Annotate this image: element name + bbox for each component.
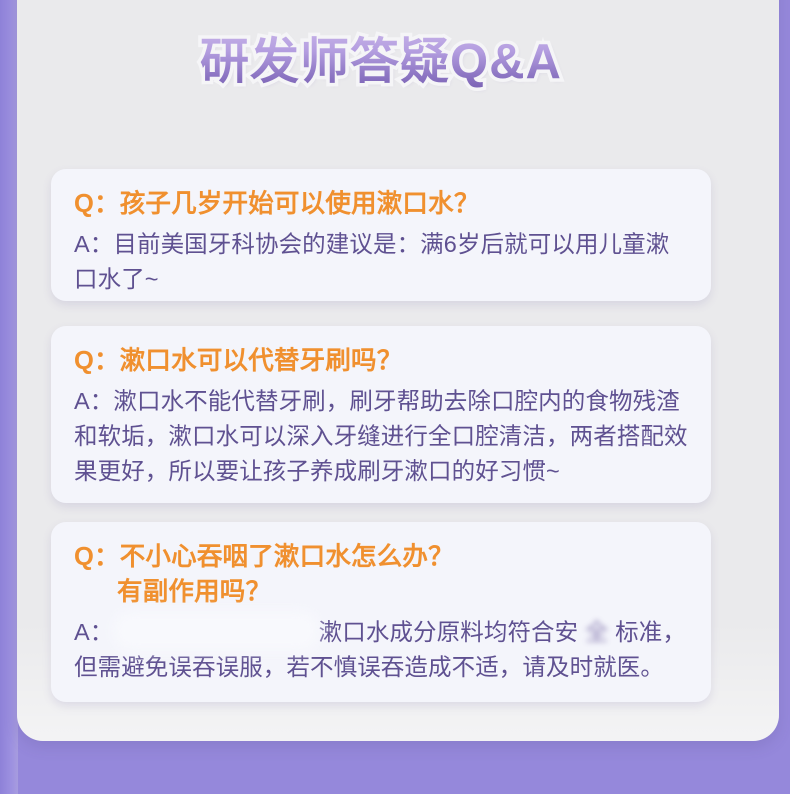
faq-question-line: Q：漱口水可以代替牙刷吗？ [74, 344, 689, 379]
redacted-brand-name [122, 620, 310, 642]
page-title-text: 研发师答疑Q&A [200, 34, 562, 90]
faq-answer-text: A：漱口水不能代替牙刷，刷牙帮助去除口腔内的食物残渣和软垢，漱口水可以深入牙缝进… [74, 388, 688, 484]
page-root: 研发师答疑Q&A 研发师答疑Q&A Q：孩子几岁开始可以使用漱口水？ A：目前美… [0, 0, 790, 794]
faq-answer-text: A：目前美国牙科协会的建议是：满6岁后就可以用儿童漱口水了~ [74, 231, 669, 292]
faq-question-line-2: 有副作用吗？ [74, 575, 689, 610]
faq-question-line: Q：不小心吞咽了漱口水怎么办？ [74, 540, 689, 575]
page-title: 研发师答疑Q&A 研发师答疑Q&A [0, 34, 762, 90]
faq-question-line: Q：孩子几岁开始可以使用漱口水？ [74, 187, 689, 222]
faq-card[interactable]: Q：不小心吞咽了漱口水怎么办？ 有副作用吗？ A： 漱口水成分原料均符合安 全 … [51, 522, 711, 702]
faq-card[interactable]: Q：漱口水可以代替牙刷吗？ A：漱口水不能代替牙刷，刷牙帮助去除口腔内的食物残渣… [51, 326, 711, 503]
faq-answer-label: A： [74, 619, 113, 645]
redacted-character: 全 [585, 615, 609, 650]
faq-card[interactable]: Q：孩子几岁开始可以使用漱口水？ A：目前美国牙科协会的建议是：满6岁后就可以用… [51, 169, 711, 301]
faq-answer: A：目前美国牙科协会的建议是：满6岁后就可以用儿童漱口水了~ [74, 227, 689, 297]
faq-answer: A：漱口水不能代替牙刷，刷牙帮助去除口腔内的食物残渣和软垢，漱口水可以深入牙缝进… [74, 384, 689, 489]
faq-answer: A： 漱口水成分原料均符合安 全 标准，但需避免误吞误服，若不慎误吞造成不适，请… [74, 615, 689, 685]
faq-answer-text: 漱口水成分原料均符合安 [319, 619, 579, 645]
